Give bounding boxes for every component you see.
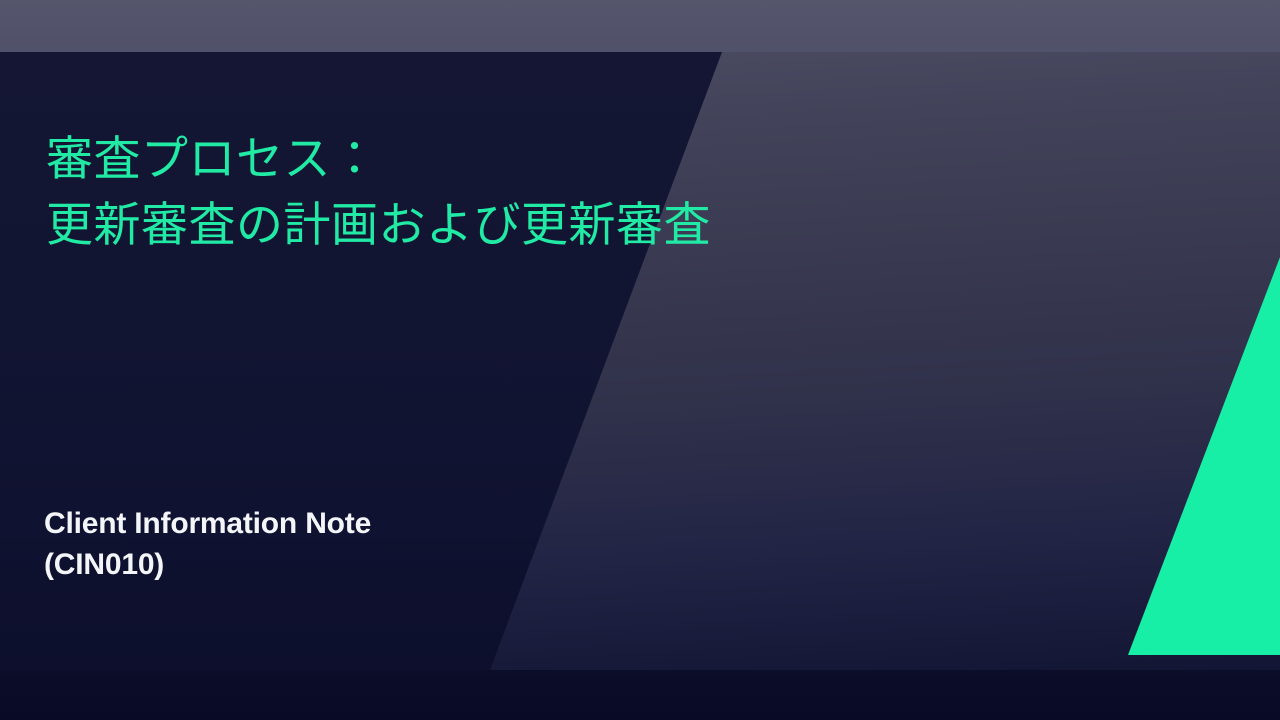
page-subtitle: Client Information Note (CIN010) xyxy=(44,503,684,585)
top-light-band xyxy=(0,0,1280,52)
bottom-dark-band xyxy=(0,670,1280,720)
subtitle-line-1: Client Information Note xyxy=(44,503,684,544)
subtitle-line-2: (CIN010) xyxy=(44,544,684,585)
title-slide: 審査プロセス： 更新審査の計画および更新審査 Client Informatio… xyxy=(0,0,1280,720)
title-line-1: 審査プロセス： xyxy=(46,126,946,192)
page-title: 審査プロセス： 更新審査の計画および更新審査 xyxy=(46,126,946,258)
title-line-2: 更新審査の計画および更新審査 xyxy=(46,192,946,258)
